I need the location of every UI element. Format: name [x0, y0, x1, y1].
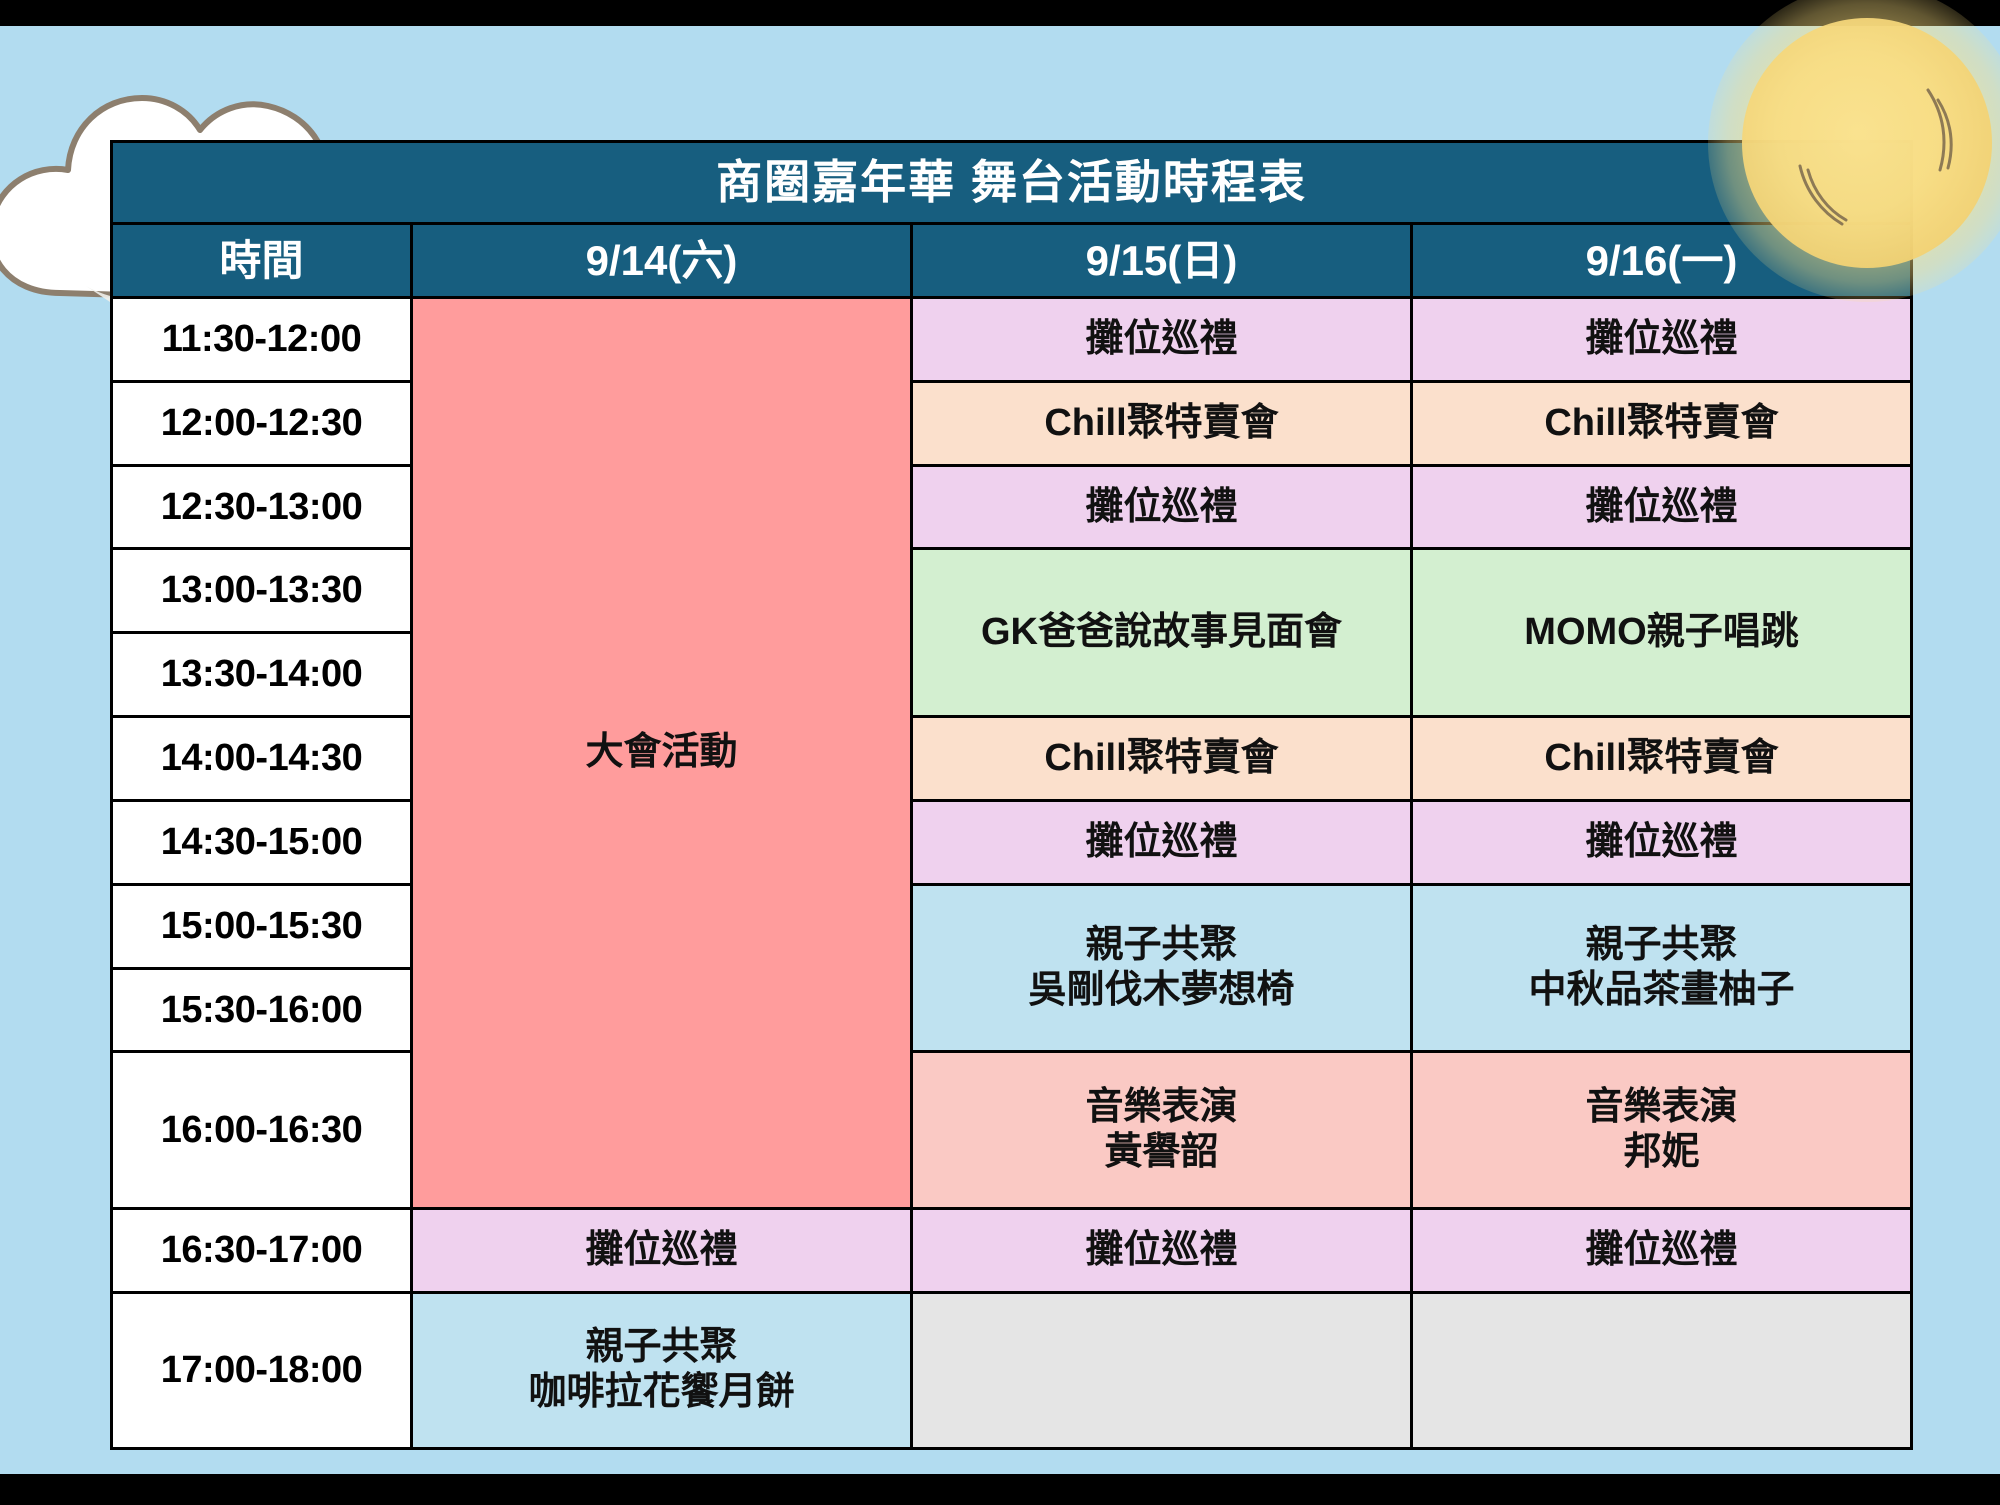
time-slot-label: 11:30-12:00 — [112, 298, 412, 382]
time-slot-label: 13:30-14:00 — [112, 633, 412, 717]
page-title: 商圈嘉年華 舞台活動時程表 — [112, 142, 1912, 224]
activity-title: 親子共聚 — [1586, 924, 1738, 966]
time-slot-label: 14:00-14:30 — [112, 717, 412, 801]
table-row: 16:00-16:30 音樂表演 黃譽韶 音樂表演 邦妮 — [112, 1052, 1912, 1208]
activity-cell-mon-sale-2[interactable]: Chill聚特賣會 — [1412, 717, 1912, 801]
time-slot-label: 14:30-15:00 — [112, 800, 412, 884]
time-slot-label: 12:00-12:30 — [112, 381, 412, 465]
activity-cell-sun-empty — [912, 1292, 1412, 1448]
activity-cell-mon-family[interactable]: 親子共聚 中秋品茶畫柚子 — [1412, 884, 1912, 1052]
column-header-day-914: 9/14(六) — [412, 224, 912, 298]
time-slot-label: 13:00-13:30 — [112, 549, 412, 633]
table-header-row: 時間 9/14(六) 9/15(日) 9/16(一) — [112, 224, 1912, 298]
table-row: 12:30-13:00 攤位巡禮 攤位巡禮 — [112, 465, 1912, 549]
table-row: 12:00-12:30 Chill聚特賣會 Chill聚特賣會 — [112, 381, 1912, 465]
table-row: 17:00-18:00 親子共聚 咖啡拉花饗月餅 — [112, 1292, 1912, 1448]
time-slot-label: 15:30-16:00 — [112, 968, 412, 1052]
column-header-day-915: 9/15(日) — [912, 224, 1412, 298]
activity-title: 音樂表演 — [1586, 1086, 1738, 1128]
activity-cell-mon-parade-4[interactable]: 攤位巡禮 — [1412, 1208, 1912, 1292]
time-slot-label: 16:30-17:00 — [112, 1208, 412, 1292]
activity-subtitle: 吳剛伐木夢想椅 — [919, 968, 1404, 1013]
activity-subtitle: 咖啡拉花饗月餅 — [419, 1370, 904, 1415]
table-title-row: 商圈嘉年華 舞台活動時程表 — [112, 142, 1912, 224]
activity-title: 親子共聚 — [585, 1326, 737, 1368]
activity-title: 音樂表演 — [1085, 1086, 1237, 1128]
activity-cell-sat-parade[interactable]: 攤位巡禮 — [412, 1208, 912, 1292]
time-slot-label: 12:30-13:00 — [112, 465, 412, 549]
activity-performer: 黃譽韶 — [919, 1130, 1404, 1175]
activity-cell-sat-family[interactable]: 親子共聚 咖啡拉花饗月餅 — [412, 1292, 912, 1448]
activity-cell-sun-parade-4[interactable]: 攤位巡禮 — [912, 1208, 1412, 1292]
activity-performer: 邦妮 — [1419, 1130, 1904, 1175]
activity-cell-mon-parade-2[interactable]: 攤位巡禮 — [1412, 465, 1912, 549]
poster-canvas: 商圈嘉年華 舞台活動時程表 時間 9/14(六) 9/15(日) 9/16(一)… — [0, 0, 2000, 1505]
activity-cell-mon-parade-1[interactable]: 攤位巡禮 — [1412, 298, 1912, 382]
column-header-time: 時間 — [112, 224, 412, 298]
activity-cell-sat-main[interactable]: 大會活動 — [412, 298, 912, 1209]
time-slot-label: 15:00-15:30 — [112, 884, 412, 968]
activity-cell-sun-music[interactable]: 音樂表演 黃譽韶 — [912, 1052, 1412, 1208]
activity-cell-sun-family[interactable]: 親子共聚 吳剛伐木夢想椅 — [912, 884, 1412, 1052]
time-slot-label: 16:00-16:30 — [112, 1052, 412, 1208]
activity-cell-sun-parade-2[interactable]: 攤位巡禮 — [912, 465, 1412, 549]
activity-cell-sun-sale-1[interactable]: Chill聚特賣會 — [912, 381, 1412, 465]
activity-cell-mon-story[interactable]: MOMO親子唱跳 — [1412, 549, 1912, 717]
activity-cell-mon-music[interactable]: 音樂表演 邦妮 — [1412, 1052, 1912, 1208]
activity-cell-sun-parade-3[interactable]: 攤位巡禮 — [912, 800, 1412, 884]
activity-cell-mon-empty — [1412, 1292, 1912, 1448]
schedule-table: 商圈嘉年華 舞台活動時程表 時間 9/14(六) 9/15(日) 9/16(一)… — [110, 140, 1913, 1450]
table-row: 11:30-12:00 大會活動 攤位巡禮 攤位巡禮 — [112, 298, 1912, 382]
activity-cell-mon-sale-1[interactable]: Chill聚特賣會 — [1412, 381, 1912, 465]
column-header-day-916: 9/16(一) — [1412, 224, 1912, 298]
schedule-table-container: 商圈嘉年華 舞台活動時程表 時間 9/14(六) 9/15(日) 9/16(一)… — [110, 140, 1910, 1450]
activity-cell-mon-parade-3[interactable]: 攤位巡禮 — [1412, 800, 1912, 884]
table-row: 14:30-15:00 攤位巡禮 攤位巡禮 — [112, 800, 1912, 884]
activity-title: 親子共聚 — [1085, 924, 1237, 966]
table-row: 14:00-14:30 Chill聚特賣會 Chill聚特賣會 — [112, 717, 1912, 801]
activity-cell-sun-parade-1[interactable]: 攤位巡禮 — [912, 298, 1412, 382]
table-row: 15:00-15:30 親子共聚 吳剛伐木夢想椅 親子共聚 中秋品茶畫柚子 — [112, 884, 1912, 968]
activity-cell-sun-story[interactable]: GK爸爸說故事見面會 — [912, 549, 1412, 717]
activity-cell-sun-sale-2[interactable]: Chill聚特賣會 — [912, 717, 1412, 801]
time-slot-label: 17:00-18:00 — [112, 1292, 412, 1448]
table-row: 16:30-17:00 攤位巡禮 攤位巡禮 攤位巡禮 — [112, 1208, 1912, 1292]
table-row: 13:00-13:30 GK爸爸說故事見面會 MOMO親子唱跳 — [112, 549, 1912, 633]
activity-subtitle: 中秋品茶畫柚子 — [1419, 968, 1904, 1013]
